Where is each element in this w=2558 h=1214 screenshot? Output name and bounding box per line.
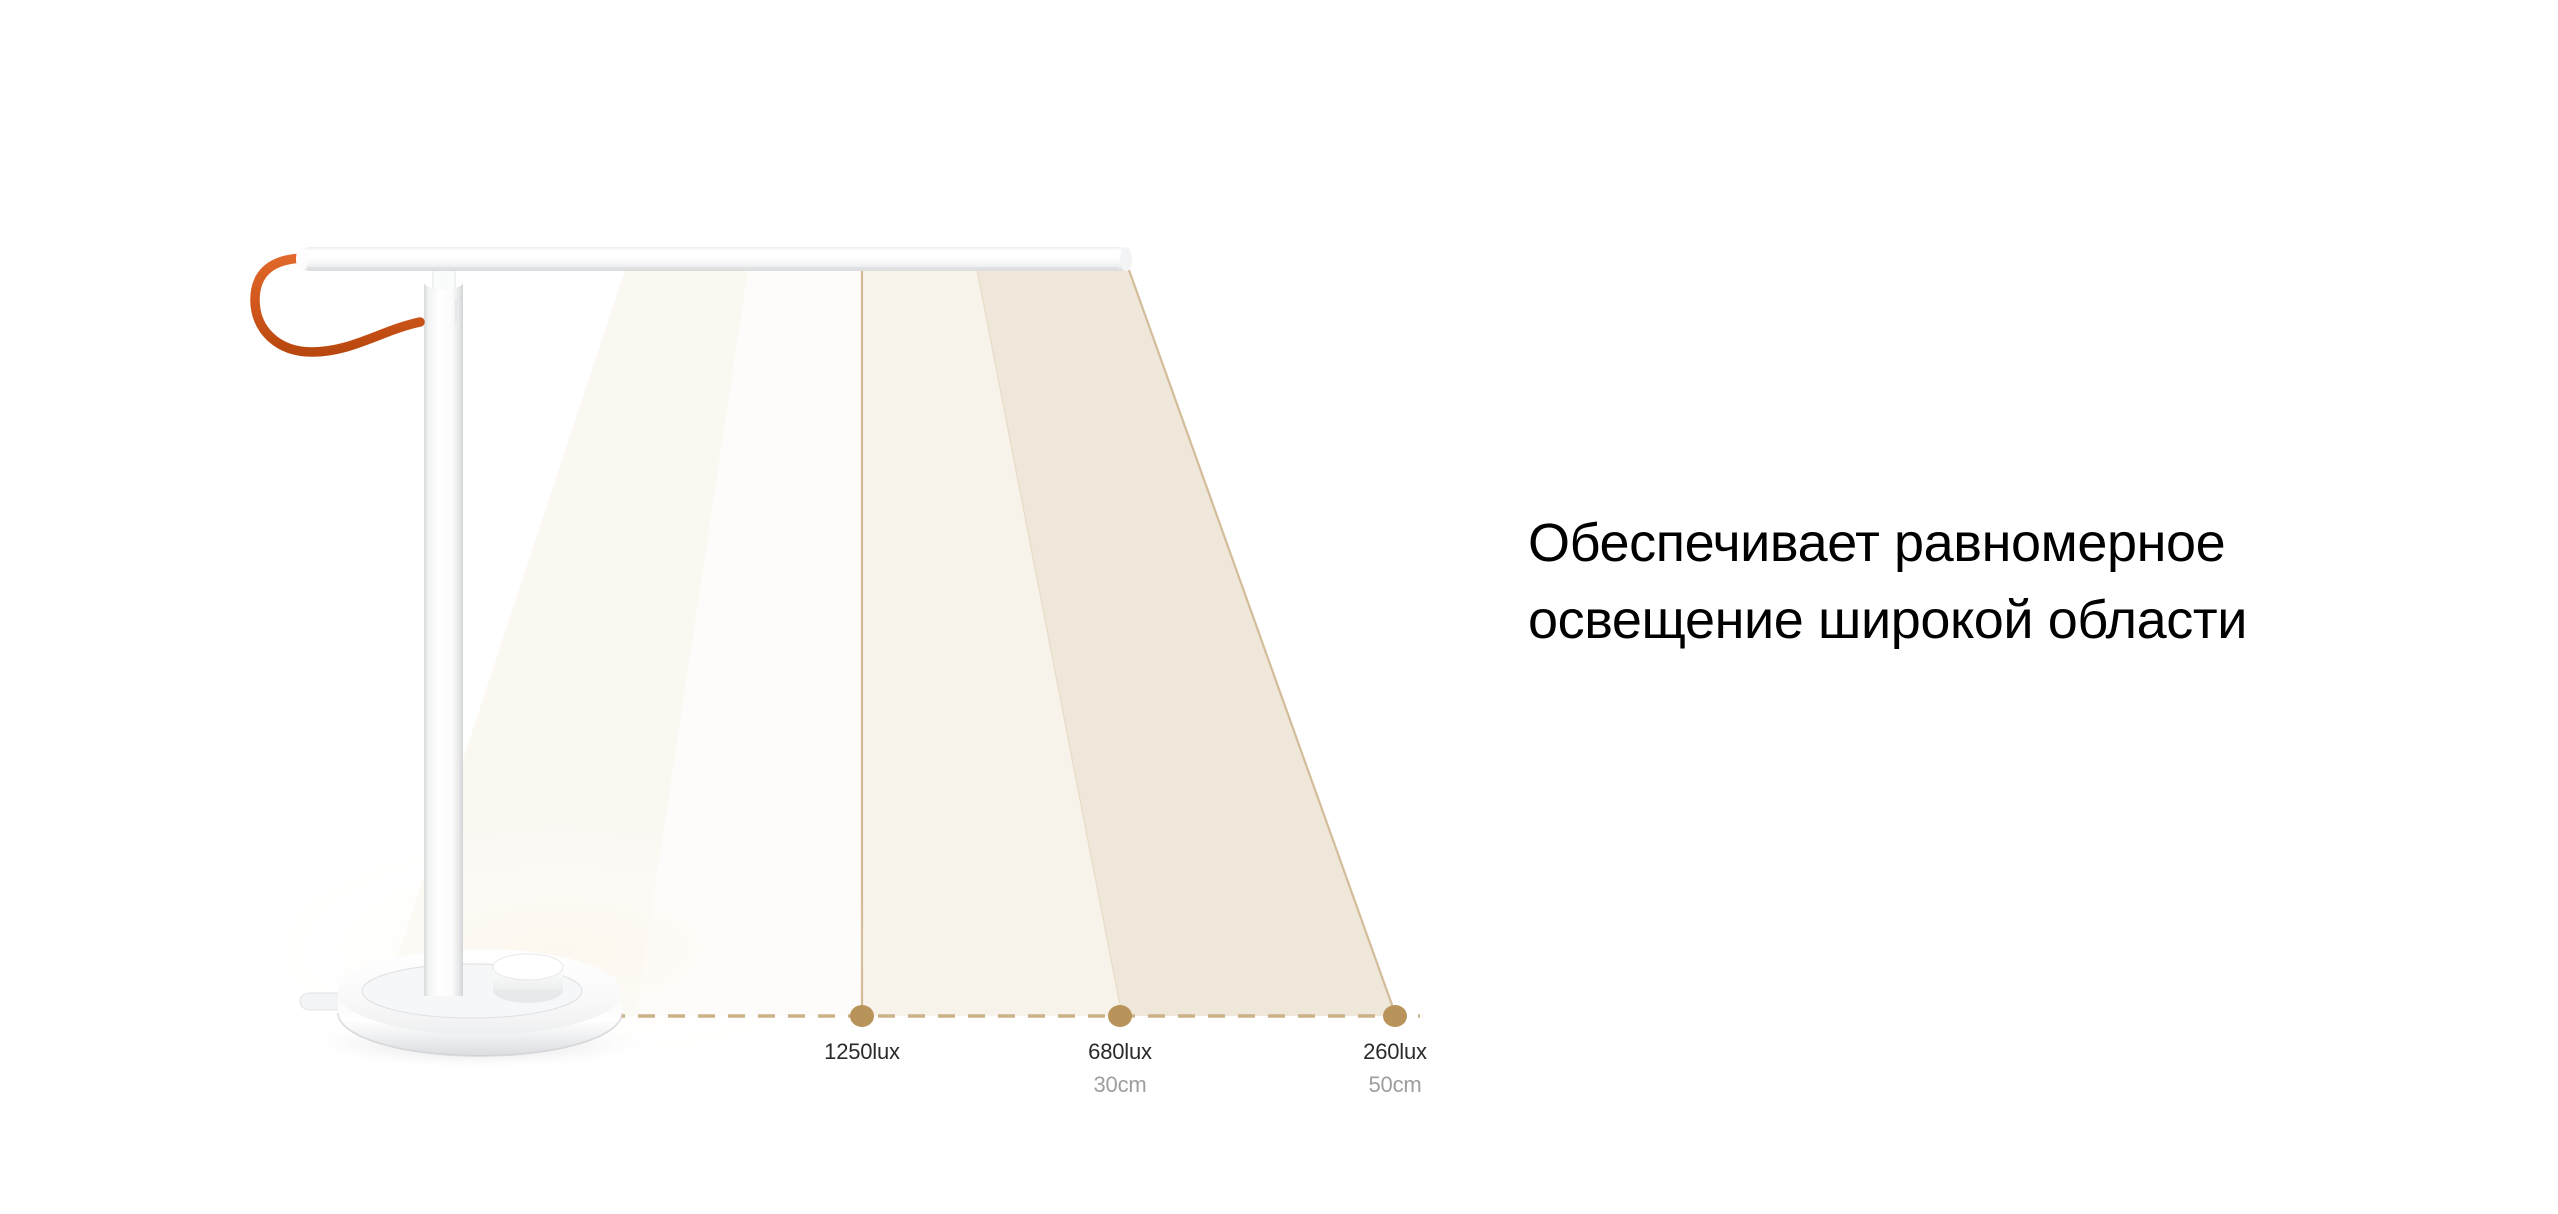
measure-dot-1250 (850, 1005, 874, 1027)
measure-distance-value: 50cm (1363, 1071, 1427, 1099)
base-control-knob[interactable] (493, 954, 563, 1003)
measure-distance-value: 30cm (1088, 1071, 1152, 1099)
measure-lux-value: 680lux (1088, 1038, 1152, 1066)
measure-dot-680 (1108, 1005, 1132, 1027)
lamp-head-bar (296, 247, 1132, 271)
lamp-illustration (0, 0, 1560, 1214)
measure-lux-value: 260lux (1363, 1038, 1427, 1066)
measure-label-680: 680lux 30cm (1088, 1038, 1152, 1099)
headline-line-2: освещение широкой области (1528, 582, 2488, 659)
measure-label-1250: 1250lux (824, 1038, 900, 1066)
measure-lux-value: 1250lux (824, 1038, 900, 1066)
headline-line-1: Обеспечивает равномерное (1528, 505, 2488, 582)
orange-cable-loop (255, 258, 420, 352)
measure-label-260: 260lux 50cm (1363, 1038, 1427, 1099)
headline: Обеспечивает равномерное освещение широк… (1528, 505, 2488, 658)
white-power-cable (0, 993, 382, 1010)
measure-dot-260 (1383, 1005, 1407, 1027)
illustration-page: 1250lux 680lux 30cm 260lux 50cm Обеспечи… (0, 0, 2558, 1214)
lamp-base (338, 949, 622, 1056)
lamp-pole (424, 277, 463, 996)
